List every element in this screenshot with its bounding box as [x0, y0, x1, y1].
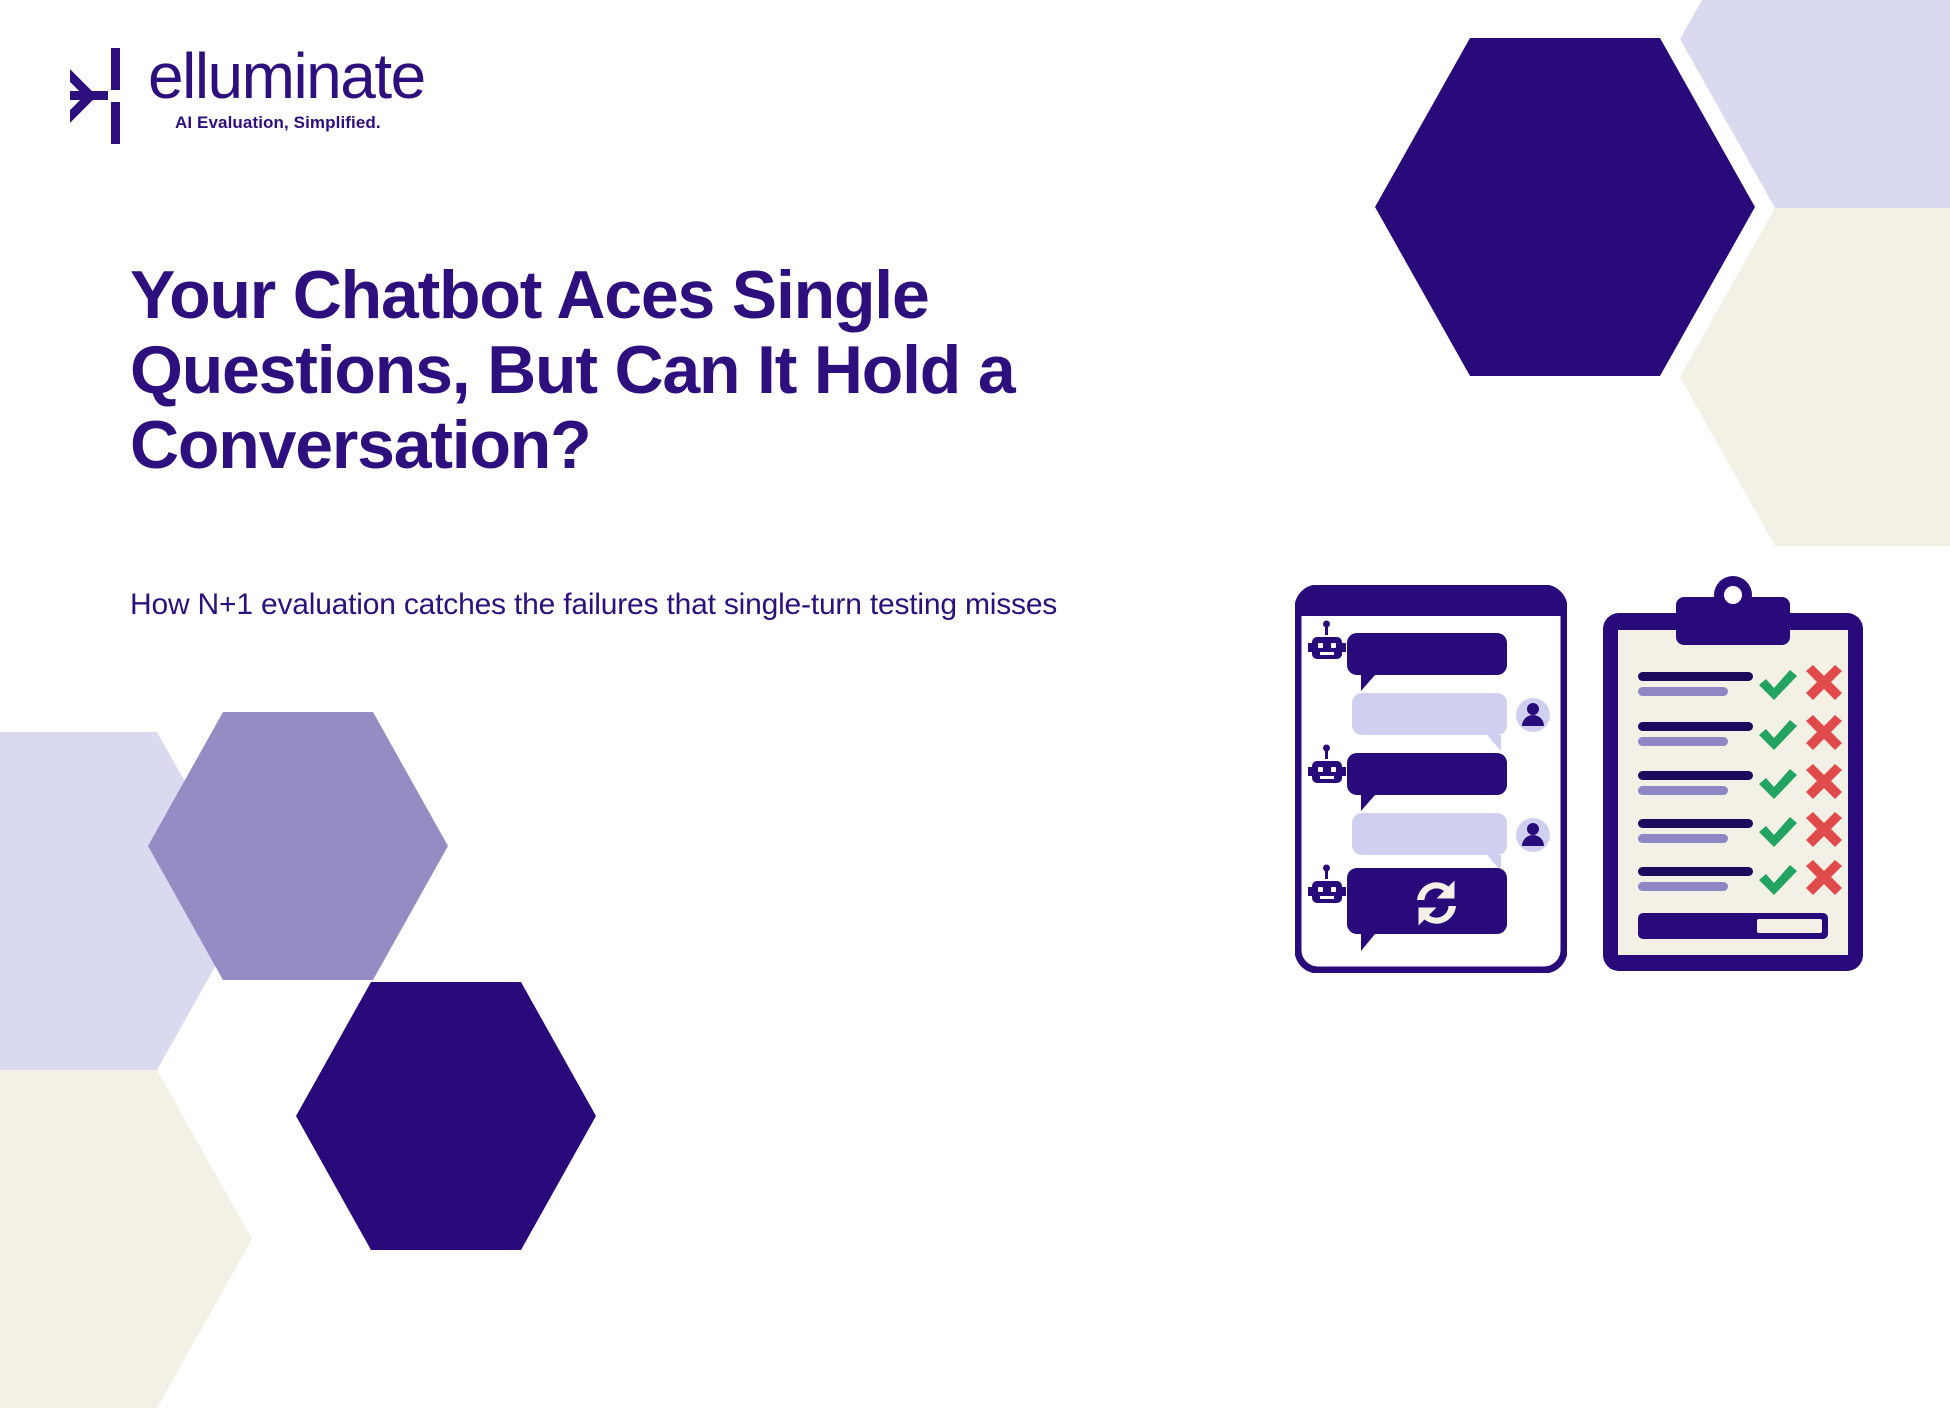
chat-person-icon — [1516, 698, 1550, 732]
hexagon-top-right-dark — [1375, 38, 1755, 376]
chat-conversation-illustration — [1295, 585, 1567, 973]
hexagon-bottom-left-lavender — [0, 732, 252, 1070]
brand-logo[interactable]: elluminate AI Evaluation, Simplified. — [70, 46, 425, 146]
evaluation-checklist-illustration — [1598, 575, 1868, 975]
hexagon-top-right-cream — [1680, 208, 1950, 546]
hexagon-bottom-left-dark — [296, 982, 596, 1250]
brand-tagline: AI Evaluation, Simplified. — [175, 113, 381, 133]
chat-person-icon-2 — [1516, 818, 1550, 852]
hexagon-bottom-left-purple — [148, 712, 448, 980]
page-title: Your Chatbot Aces Single Questions, But … — [130, 258, 1190, 482]
brand-wordmark: elluminate — [148, 46, 425, 107]
elluminate-converging-lines-icon — [70, 46, 126, 146]
progress-bar — [1638, 913, 1828, 939]
page-subtitle: How N+1 evaluation catches the failures … — [130, 583, 1140, 627]
hexagon-bottom-left-cream — [0, 1070, 252, 1408]
hexagon-top-right-lavender — [1680, 0, 1950, 208]
